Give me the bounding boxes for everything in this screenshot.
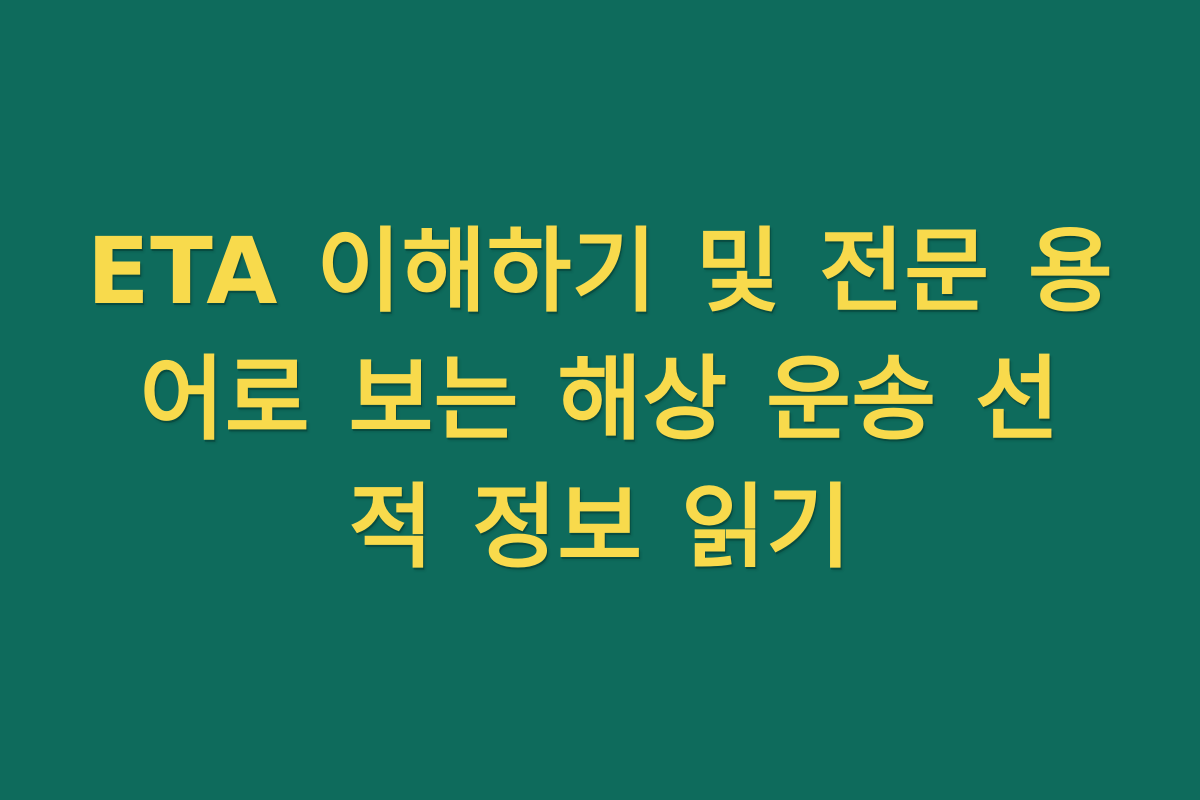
page-title: ETA 이해하기 및 전문 용 어로 보는 해상 운송 선 적 정보 읽기 (70, 208, 1130, 592)
title-line-3: 적 정보 읽기 (70, 464, 1130, 592)
title-line-1: ETA 이해하기 및 전문 용 (70, 208, 1130, 336)
title-line-2: 어로 보는 해상 운송 선 (70, 336, 1130, 464)
title-banner: ETA 이해하기 및 전문 용 어로 보는 해상 운송 선 적 정보 읽기 (0, 0, 1200, 800)
